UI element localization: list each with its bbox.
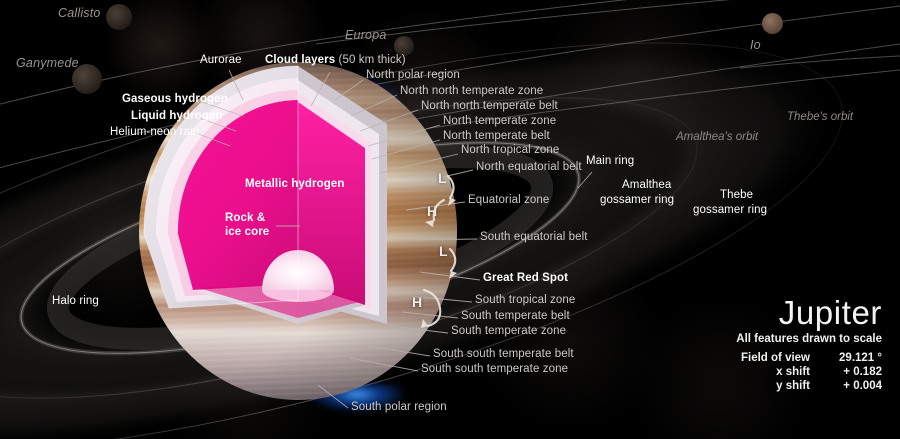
label-halo-ring: Halo ring bbox=[52, 295, 99, 307]
title-block: Jupiter All features drawn to scale Fiel… bbox=[718, 296, 882, 392]
label-main-ring: Main ring bbox=[586, 155, 634, 167]
page-title: Jupiter bbox=[718, 296, 882, 330]
label-amalthea-gossamer-ring-line2: gossamer ring bbox=[600, 194, 674, 206]
label-thebe-gossamer-ring-line1: Thebe bbox=[720, 189, 753, 201]
x-shift-row: x shift + 0.182 bbox=[718, 366, 882, 378]
y-shift-value: + 0.004 bbox=[820, 380, 882, 392]
x-shift-label: x shift bbox=[718, 366, 810, 378]
x-shift-value: + 0.182 bbox=[820, 366, 882, 378]
label-amalthea-gossamer-ring-line1: Amalthea bbox=[622, 179, 671, 191]
fov-value: 29.121 ° bbox=[820, 352, 882, 364]
subtitle: All features drawn to scale bbox=[718, 333, 882, 345]
y-shift-label: y shift bbox=[718, 380, 810, 392]
field-of-view-block: Field of view 29.121 ° x shift + 0.182 y… bbox=[718, 352, 882, 392]
y-shift-row: y shift + 0.004 bbox=[718, 380, 882, 392]
fov-row: Field of view 29.121 ° bbox=[718, 352, 882, 364]
jupiter-diagram: Callisto Ganymede Europa Io Amalthea's o… bbox=[0, 0, 900, 439]
label-thebe-gossamer-ring-line2: gossamer ring bbox=[693, 204, 767, 216]
fov-label: Field of view bbox=[718, 352, 810, 364]
